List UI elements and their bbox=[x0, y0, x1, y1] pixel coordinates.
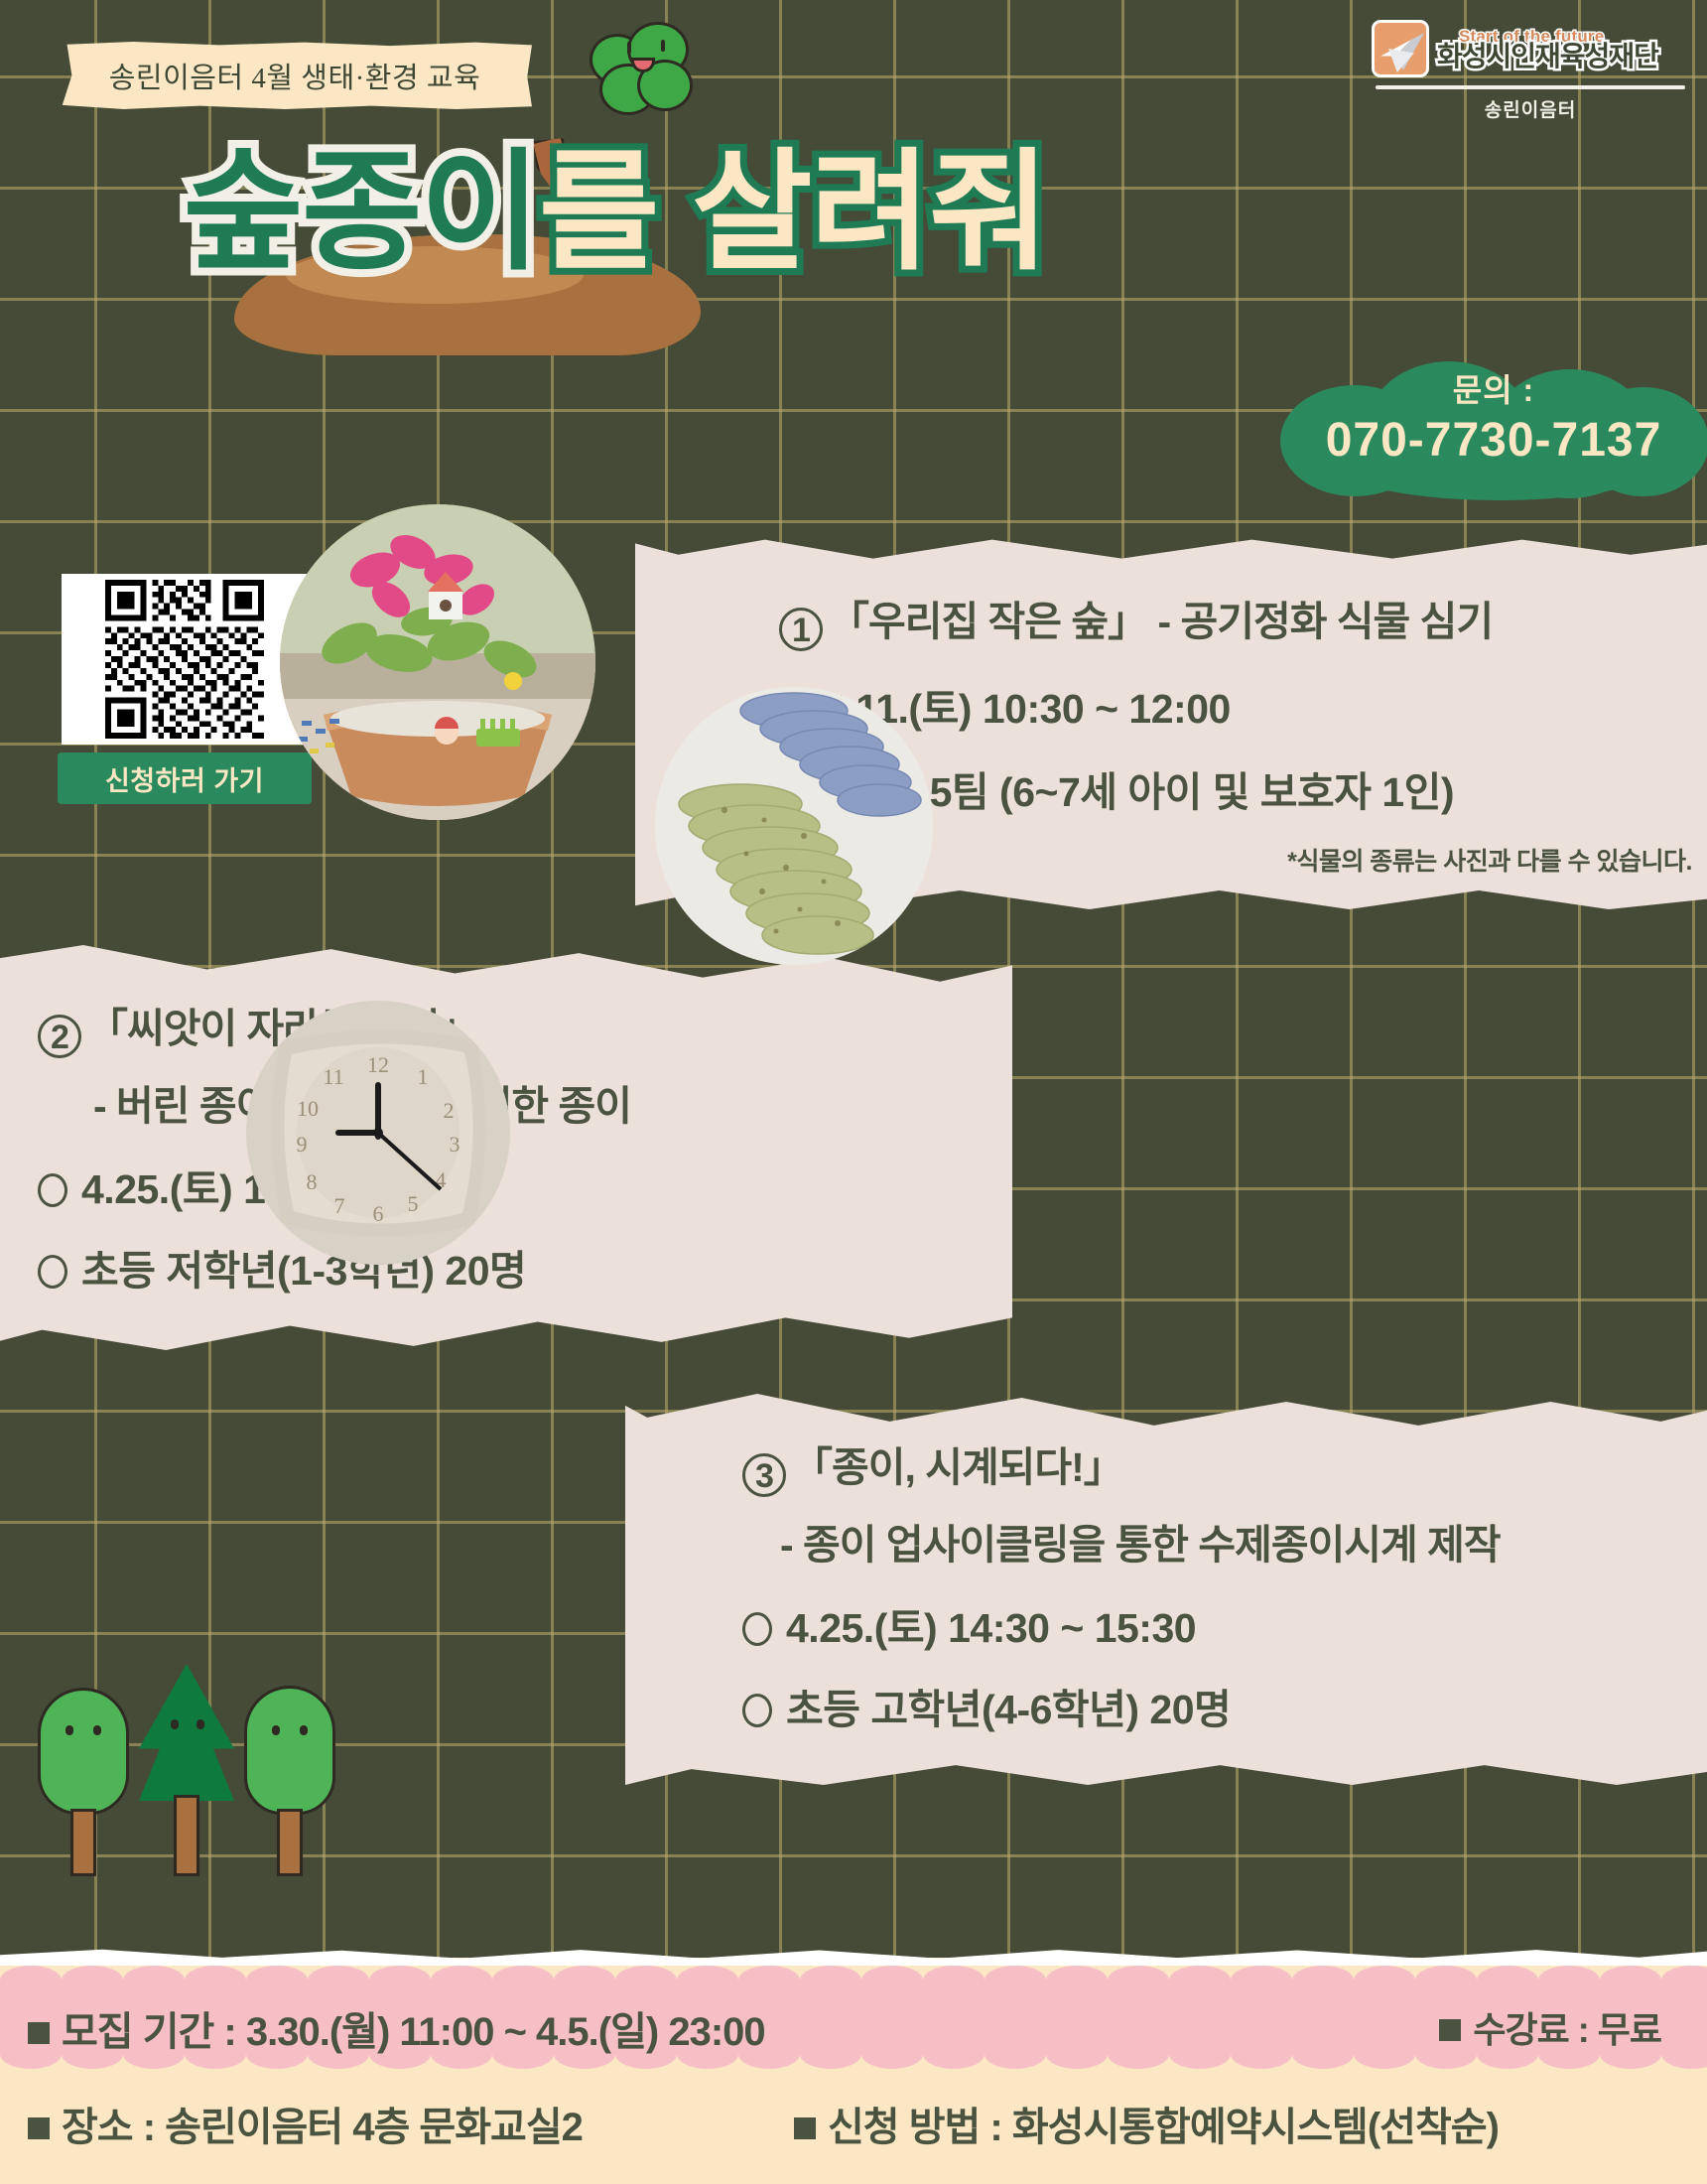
logo-divider bbox=[1376, 85, 1685, 89]
title-part-4: 살려줘 bbox=[692, 139, 1047, 285]
bullet-circle-icon bbox=[38, 1255, 67, 1289]
program-1-date: 4.11.(토) 10:30 ~ 12:00 bbox=[779, 675, 1692, 735]
program-1-number: 1 bbox=[779, 608, 823, 651]
sad-tree-icon bbox=[584, 18, 701, 129]
program-3-subtitle: - 종이 업사이클링을 통한 수제종이시계 제작 bbox=[780, 1511, 1695, 1570]
footer-period: 모집 기간 : 3.30.(월) 11:00 ~ 4.5.(일) 23:00 bbox=[28, 1999, 765, 2057]
bullet-circle-icon bbox=[742, 1694, 772, 1727]
contact-cloud: 문의 : 070-7730-7137 bbox=[1280, 355, 1707, 504]
scallop-segment bbox=[1169, 2039, 1231, 2069]
bullet-circle-icon bbox=[742, 1612, 772, 1646]
qr-code[interactable] bbox=[62, 574, 308, 745]
svg-text:10: 10 bbox=[297, 1096, 319, 1121]
square-bullet-icon bbox=[1439, 2019, 1461, 2041]
program-3-target: 초등 고학년(4-6학년) 20명 bbox=[742, 1676, 1695, 1735]
program-3-target-text: 초등 고학년(4-6학년) 20명 bbox=[786, 1687, 1231, 1732]
decor-tree-3 bbox=[244, 1686, 335, 1876]
footer-period-text: 모집 기간 : 3.30.(월) 11:00 ~ 4.5.(일) 23:00 bbox=[62, 2010, 765, 2054]
svg-text:1: 1 bbox=[418, 1064, 429, 1089]
paper-plane-icon bbox=[1372, 20, 1429, 77]
program-photo-3-paper-clock: 12 1 2 3 4 5 6 7 8 9 10 11 bbox=[246, 1001, 510, 1265]
scallop-segment bbox=[861, 2039, 923, 2069]
decor-tree-1 bbox=[38, 1688, 129, 1876]
title-part-2: 종이 bbox=[302, 139, 539, 285]
program-1-heading-text: 「우리집 작은 숲」 - 공기정화 식물 심기 bbox=[829, 599, 1493, 644]
scallop-segment bbox=[1292, 2039, 1354, 2069]
svg-text:8: 8 bbox=[307, 1169, 318, 1194]
program-2-target-text: 초등 저학년(1-3학년) 20명 bbox=[81, 1248, 526, 1294]
poster-canvas: 송린이음터 4월 생태·환경 교육 Start of the future 화성… bbox=[0, 0, 1707, 2184]
program-3: 3「종이, 시계되다!」 - 종이 업사이클링을 통한 수제종이시계 제작 4.… bbox=[742, 1433, 1695, 1757]
photo-2-artwork bbox=[655, 687, 933, 965]
header-banner: 송린이음터 4월 생태·환경 교육 bbox=[58, 42, 532, 109]
logo-texts: Start of the future 화성시인재육성재단 bbox=[1437, 28, 1658, 70]
logo-row: Start of the future 화성시인재육성재단 bbox=[1372, 20, 1689, 77]
contact-phone-number: 070-7730-7137 bbox=[1280, 413, 1707, 468]
scallop-segment bbox=[1108, 2039, 1169, 2069]
svg-text:9: 9 bbox=[297, 1132, 308, 1157]
scallop-segment bbox=[1231, 2039, 1292, 2069]
program-2-heading: 2「씨앗이 자라는 종이」 bbox=[38, 995, 990, 1058]
qr-code-image[interactable] bbox=[62, 574, 308, 745]
program-3-date-text: 4.25.(토) 14:30 ~ 15:30 bbox=[786, 1605, 1196, 1651]
logo-place-name: 송린이음터 bbox=[1372, 95, 1689, 122]
scallop-segment bbox=[985, 2039, 1046, 2069]
scallop-segment bbox=[1661, 2039, 1707, 2069]
program-2: 2「씨앗이 자라는 종이」 - 버린 종이로 만드는 특별한 종이 4.25.(… bbox=[38, 995, 990, 1318]
footer-fee-text: 수강료 : 무료 bbox=[1473, 2009, 1661, 2050]
header-banner-text: 송린이음터 4월 생태·환경 교육 bbox=[109, 55, 481, 96]
foundation-logo: Start of the future 화성시인재육성재단 송린이음터 bbox=[1372, 20, 1689, 137]
scallop-segment bbox=[1354, 2039, 1415, 2069]
program-2-date: 4.25.(토) 13:00 ~ 14:00 bbox=[38, 1156, 990, 1215]
apply-button[interactable]: 신청하러 가기 bbox=[58, 752, 312, 804]
footer: 모집 기간 : 3.30.(월) 11:00 ~ 4.5.(일) 23:00 수… bbox=[0, 1958, 1707, 2184]
program-2-target: 초등 저학년(1-3학년) 20명 bbox=[38, 1237, 990, 1297]
program-1-heading: 1「우리집 작은 숲」 - 공기정화 식물 심기 bbox=[779, 588, 1692, 651]
svg-text:12: 12 bbox=[367, 1052, 389, 1077]
page-title: 숲종이를 살려줘 bbox=[0, 147, 1231, 278]
pink-band-bottom-scallop bbox=[0, 2053, 1707, 2083]
program-3-number: 3 bbox=[742, 1453, 786, 1497]
logo-org-name: 화성시인재육성재단 bbox=[1437, 43, 1658, 70]
square-bullet-icon bbox=[28, 2022, 50, 2044]
svg-text:2: 2 bbox=[444, 1098, 455, 1123]
scallop-segment bbox=[1046, 2039, 1108, 2069]
svg-text:7: 7 bbox=[334, 1193, 345, 1218]
contact-label: 문의 : bbox=[1280, 365, 1707, 411]
program-photo-1-plant-pot bbox=[280, 504, 595, 820]
footer-method: 신청 방법 : 화성시통합예약시스템(선착순) bbox=[794, 2095, 1499, 2152]
apply-button-label: 신청하러 가기 bbox=[105, 759, 264, 798]
bullet-circle-icon bbox=[38, 1173, 67, 1207]
title-part-3: 를 bbox=[539, 139, 657, 285]
scallop-segment bbox=[923, 2039, 985, 2069]
scallop-segment bbox=[800, 2039, 861, 2069]
program-2-subtitle: - 버린 종이로 만드는 특별한 종이 bbox=[93, 1072, 990, 1132]
photo-3-artwork: 12 1 2 3 4 5 6 7 8 9 10 11 bbox=[246, 1001, 510, 1265]
contact-text-group: 문의 : 070-7730-7137 bbox=[1280, 355, 1707, 504]
footer-place-text: 장소 : 송린이음터 4층 문화교실2 bbox=[62, 2106, 583, 2149]
photo-1-artwork bbox=[280, 504, 595, 820]
svg-text:11: 11 bbox=[323, 1064, 343, 1089]
square-bullet-icon bbox=[28, 2117, 50, 2139]
program-3-heading-text: 「종이, 시계되다!」 bbox=[792, 1444, 1123, 1490]
program-2-number: 2 bbox=[38, 1015, 81, 1058]
footer-method-text: 신청 방법 : 화성시통합예약시스템(선착순) bbox=[828, 2106, 1499, 2149]
program-photo-2-seed-paper bbox=[655, 687, 933, 965]
footer-fee: 수강료 : 무료 bbox=[1439, 2001, 1661, 2053]
square-bullet-icon bbox=[794, 2117, 816, 2139]
footer-place: 장소 : 송린이음터 4층 문화교실2 bbox=[28, 2095, 583, 2152]
program-3-heading: 3「종이, 시계되다!」 bbox=[742, 1433, 1695, 1497]
svg-text:5: 5 bbox=[408, 1191, 419, 1216]
title-part-1: 숲 bbox=[184, 139, 302, 285]
program-3-date: 4.25.(토) 14:30 ~ 15:30 bbox=[742, 1594, 1695, 1654]
svg-text:6: 6 bbox=[373, 1201, 384, 1226]
footer-torn-edge bbox=[0, 1948, 1707, 1966]
decor-tree-2 bbox=[139, 1664, 234, 1876]
svg-text:3: 3 bbox=[450, 1132, 460, 1157]
